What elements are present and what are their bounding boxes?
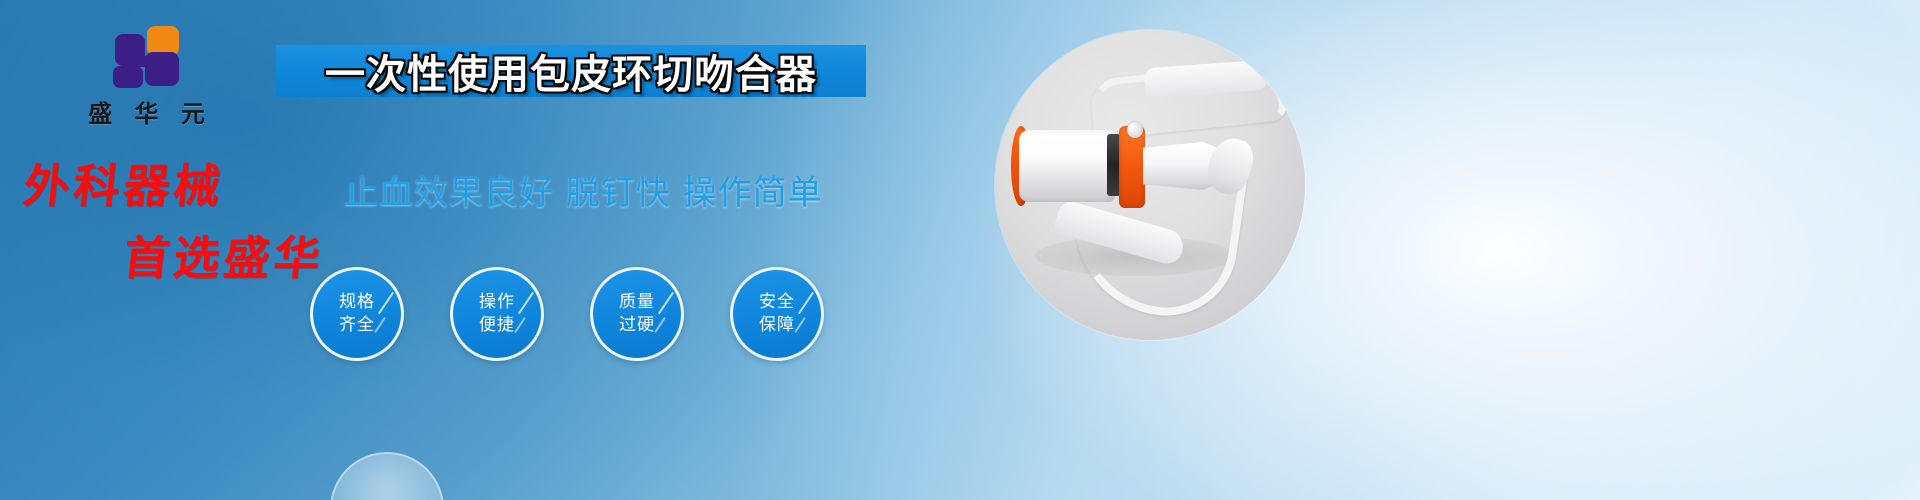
brand-logo[interactable]: 盛 华 元: [60, 26, 240, 126]
product-title-text: 一次性使用包皮环切吻合器: [325, 42, 817, 100]
slash-decoration-small-icon: [374, 317, 386, 333]
promo-banner: 盛 华 元 一次性使用包皮环切吻合器 外科器械 首选盛华 止血效果良好 脱钉快 …: [0, 0, 1920, 500]
feature-circle-operation[interactable]: 操作 便捷: [450, 267, 544, 361]
feature-line-1: 质量: [619, 291, 655, 314]
feature-line-2: 便捷: [479, 314, 515, 337]
logo-mark-icon: [111, 26, 189, 88]
feature-line-2: 保障: [759, 314, 795, 337]
red-brush-slogan: 外科器械 首选盛华: [24, 150, 354, 265]
logo-square-purple-right: [145, 52, 179, 86]
feature-line-1: 规格: [339, 291, 375, 314]
product-orange-ring-front: [1119, 126, 1145, 208]
feature-circle-quality[interactable]: 质量 过硬: [590, 267, 684, 361]
decorative-circle: [330, 452, 444, 500]
slash-decoration-icon: [658, 292, 674, 315]
feature-line-1: 安全: [759, 291, 795, 314]
feature-circle-specifications[interactable]: 规格 齐全: [310, 267, 404, 361]
slash-decoration-icon: [798, 292, 814, 315]
slash-decoration-small-icon: [654, 317, 666, 333]
logo-square-purple-bottom: [113, 66, 143, 88]
red-slogan-line-1: 外科器械: [21, 150, 358, 216]
slash-decoration-small-icon: [794, 317, 806, 333]
slash-decoration-icon: [518, 292, 534, 315]
feature-line-1: 操作: [479, 291, 515, 314]
product-photo: [995, 30, 1305, 340]
red-slogan-line-2: 首选盛华: [121, 222, 358, 288]
feature-line-2: 过硬: [619, 314, 655, 337]
subtitle-text: 止血效果良好 脱钉快 操作简单: [344, 165, 823, 214]
logo-brand-name: 盛 华 元: [60, 94, 240, 129]
slash-decoration-icon: [378, 292, 394, 315]
feature-line-2: 齐全: [339, 314, 375, 337]
product-title-bar: 一次性使用包皮环切吻合器: [276, 45, 866, 97]
product-pivot-joint: [1127, 122, 1143, 138]
feature-circle-safety[interactable]: 安全 保障: [730, 267, 824, 361]
product-white-cylinder: [1019, 130, 1115, 202]
slash-decoration-small-icon: [514, 317, 526, 333]
